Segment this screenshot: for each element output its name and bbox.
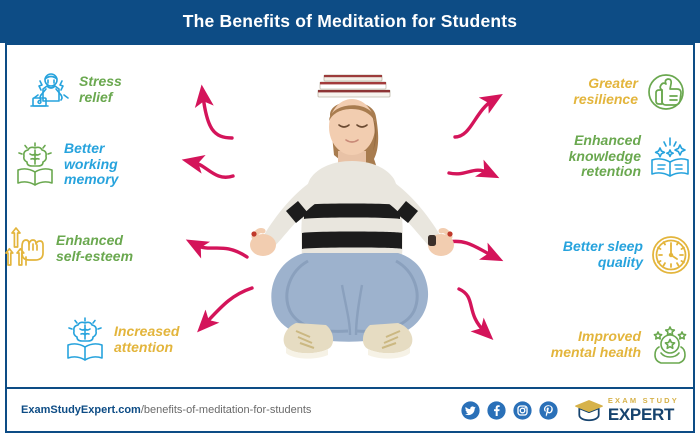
footer-url-path: /benefits-of-meditation-for-students: [141, 404, 312, 416]
benefits-stage: Stress relief Better working memory: [7, 45, 693, 385]
benefit-label: Stress relief: [79, 74, 122, 105]
benefit-increased-attention[interactable]: Increased attention: [62, 317, 222, 363]
books-on-head-icon: [318, 75, 390, 97]
benefit-knowledge-retention[interactable]: Enhanced knowledge retention: [503, 133, 693, 180]
footer-bar: ExamStudyExpert.com/benefits-of-meditati…: [7, 387, 693, 431]
benefit-label: Increased attention: [114, 324, 179, 355]
stressed-person-laptop-icon: [27, 67, 73, 113]
pinterest-icon[interactable]: [539, 401, 558, 420]
benefit-better-sleep[interactable]: Better sleep quality: [503, 233, 693, 277]
benefit-label: Improved mental health: [551, 329, 641, 360]
footer-url-brand: ExamStudyExpert.com: [21, 404, 141, 416]
arrow-to-stress-relief: [203, 96, 232, 138]
page-title: The Benefits of Meditation for Students: [183, 11, 517, 32]
sparkling-book-icon: [647, 134, 693, 180]
shoe-right: [363, 323, 412, 359]
benefit-label: Enhanced self-esteem: [56, 233, 133, 264]
wristband: [428, 235, 436, 246]
benefit-self-esteem[interactable]: Enhanced self-esteem: [2, 227, 202, 271]
benefit-working-memory[interactable]: Better working memory: [12, 141, 202, 188]
fist-up-arrows-icon: [2, 227, 50, 271]
logo-bottom-text: EXPERT: [608, 406, 679, 423]
footer-url[interactable]: ExamStudyExpert.com/benefits-of-meditati…: [21, 404, 311, 416]
thumbs-up-circle-icon: [644, 70, 688, 114]
instagram-icon[interactable]: [513, 401, 532, 420]
benefit-greater-resilience[interactable]: Greater resilience: [513, 70, 688, 114]
benefit-label: Better working memory: [64, 141, 118, 188]
benefit-stress-relief[interactable]: Stress relief: [27, 67, 202, 113]
meditating-student-image: [238, 55, 466, 385]
meditating-student-illustration: [238, 55, 466, 385]
benefit-mental-health[interactable]: Improved mental health: [493, 323, 693, 367]
logo-top-text: EXAM STUDY: [608, 397, 679, 405]
clock-icon: [649, 233, 693, 277]
social-links: [461, 401, 558, 420]
benefit-label: Enhanced knowledge retention: [569, 133, 641, 180]
benefit-label: Greater resilience: [573, 76, 638, 107]
infographic-root: The Benefits of Meditation for Students: [0, 0, 700, 438]
brain-book-icon: [62, 317, 108, 363]
facebook-icon[interactable]: [487, 401, 506, 420]
hands-star-medal-icon: [647, 323, 693, 367]
benefit-label: Better sleep quality: [563, 239, 643, 270]
header-bar: The Benefits of Meditation for Students: [0, 0, 700, 43]
brand-logo[interactable]: EXAM STUDY EXPERT: [574, 397, 679, 423]
graduation-cap-icon: [574, 398, 604, 423]
brain-book-icon: [12, 142, 58, 188]
logo-text: EXAM STUDY EXPERT: [608, 397, 679, 423]
shoe-left: [284, 323, 333, 359]
twitter-icon[interactable]: [461, 401, 480, 420]
